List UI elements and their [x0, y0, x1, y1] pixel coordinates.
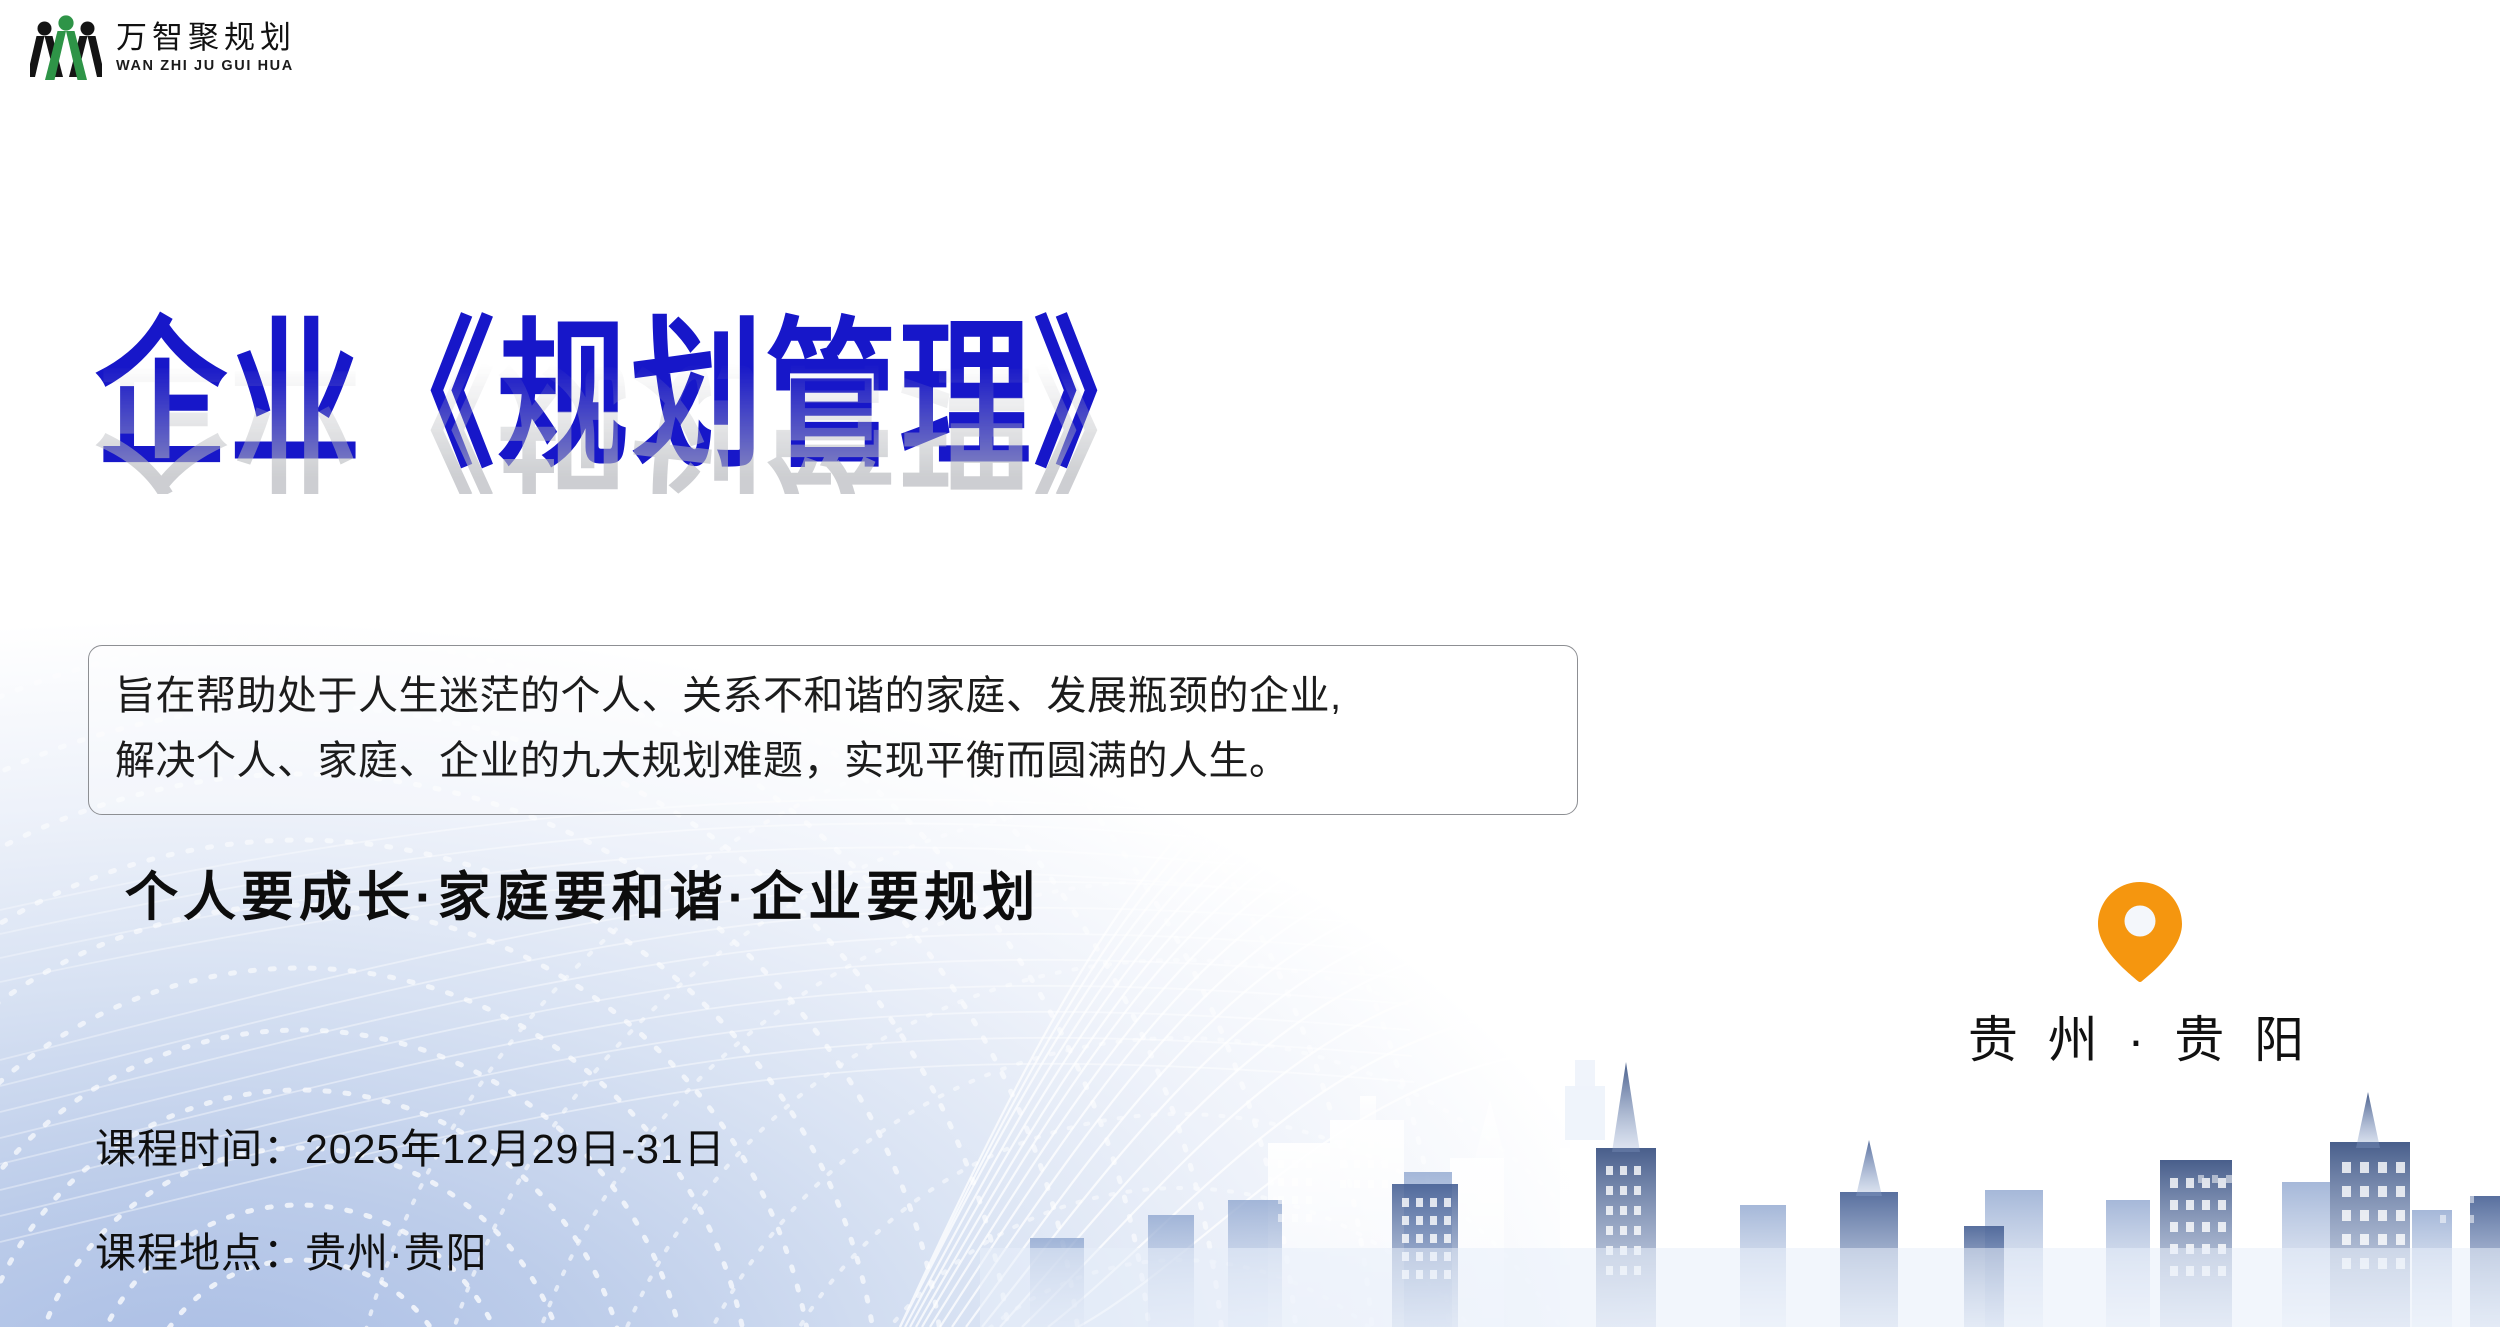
brand-logo[interactable]: 万智聚规划 WAN ZHI JU GUI HUA	[30, 14, 296, 82]
brand-name-cn: 万智聚规划	[116, 22, 296, 55]
hero-title-block: 企业《规划管理》 企业《规划管理》	[95, 316, 1655, 448]
brand-name-en: WAN ZHI JU GUI HUA	[116, 58, 296, 74]
location-badge: 贵 州 · 贵 阳	[1940, 880, 2340, 1072]
location-pin-icon	[2096, 880, 2184, 984]
slogan-text: 个人要成长·家庭要和谐·企业要规划	[125, 855, 1040, 931]
course-time-row: 课程时间：2025年12月29日-31日	[95, 1115, 726, 1175]
description-box: 旨在帮助处于人生迷茫的个人、关系不和谐的家庭、发展瓶颈的企业, 解决个人、家庭、…	[88, 645, 1578, 815]
location-name: 贵 州 · 贵 阳	[1968, 1000, 2312, 1072]
course-place-row: 课程地点：贵州·贵阳	[95, 1219, 726, 1279]
page-title-reflection: 企业《规划管理》	[95, 355, 1167, 494]
three-people-group-icon	[30, 14, 102, 82]
course-info-block: 课程时间：2025年12月29日-31日 课程地点：贵州·贵阳	[95, 1115, 726, 1323]
poster-canvas: 万智聚规划 WAN ZHI JU GUI HUA 企业《规划管理》 企业《规划管…	[0, 0, 2500, 1327]
description-line-2: 解决个人、家庭、企业的九大规划难题，实现平衡而圆满的人生。	[115, 729, 1551, 794]
description-line-1: 旨在帮助处于人生迷茫的个人、关系不和谐的家庭、发展瓶颈的企业,	[115, 664, 1551, 729]
